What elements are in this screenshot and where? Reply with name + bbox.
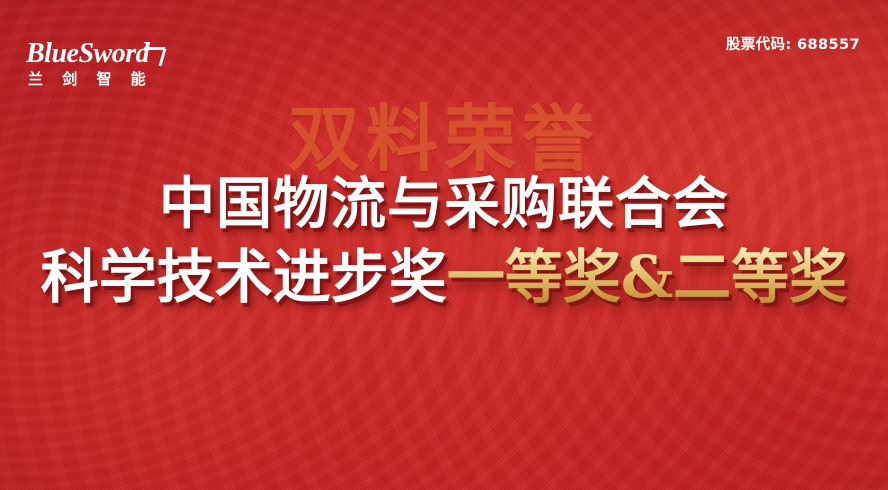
headline-line-2-white: 科学技术进步奖 [41,243,447,311]
watermark-text: 双料荣誉 [0,103,888,175]
headline-block: 中国物流与采购联合会 科学技术进步奖一等奖&二等奖 [0,176,888,306]
stock-code-label: 股票代码: 688557 [726,38,860,53]
headline-line-2: 科学技术进步奖一等奖&二等奖 [0,248,888,306]
bracket-mark-icon [143,47,165,66]
promotional-banner: BlueSword 兰 剑 智 能 股票代码: 688557 双料荣誉 中国物流… [0,0,888,490]
logo-wordmark: BlueSword [26,40,149,68]
company-logo: BlueSword 兰 剑 智 能 [26,24,216,84]
logo-chinese-name: 兰 剑 智 能 [28,72,153,87]
headline-line-2-gold: 一等奖&二等奖 [447,243,847,311]
headline-line-1: 中国物流与采购联合会 [0,176,888,232]
